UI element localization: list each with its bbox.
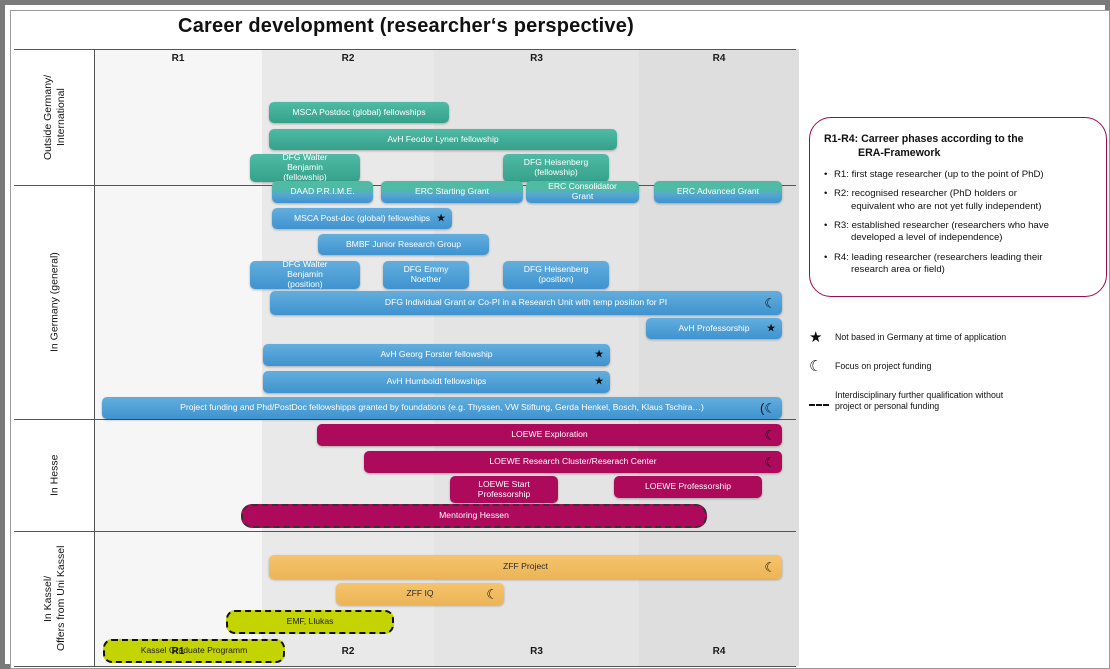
timeline-bar[interactable]: DFG Walter Benjamin (position) (250, 261, 360, 289)
row-label-outside: Outside Germany/ International (20, 49, 90, 185)
crescent-moon-icon: ☾ (764, 456, 776, 469)
timeline-bar[interactable]: ERC Advanced Grant (654, 181, 782, 203)
era-item-cont: research area or field) (834, 264, 1092, 276)
era-bullet-list: •R1: first stage researcher (up to the p… (824, 169, 1092, 277)
era-bullet-item: •R2: recognised researcher (PhD holders … (824, 188, 1092, 213)
timeline-bar-label: Project funding and Phd/PostDoc fellowsh… (180, 403, 704, 413)
crescent-moon-icon: ☾ (764, 297, 776, 310)
era-item-text: R4: leading researcher (researchers lead… (834, 252, 1092, 277)
era-heading-line2: ERA-Framework (824, 146, 1092, 160)
timeline-bar[interactable]: Project funding and Phd/PostDoc fellowsh… (102, 397, 782, 419)
symbol-key-label: Focus on project funding (835, 358, 1109, 372)
era-item-text: R2: recognised researcher (PhD holders o… (834, 188, 1092, 213)
era-item-main: R1: first stage researcher (up to the po… (834, 169, 1044, 180)
era-item-cont: developed a level of independence) (834, 232, 1092, 244)
era-item-text: R1: first stage researcher (up to the po… (834, 169, 1092, 181)
phase-label-r2-top: R2 (262, 53, 434, 64)
timeline-bar-label: LOEWE Exploration (511, 430, 587, 440)
timeline-bar[interactable]: DAAD P.R.I.M.E. (272, 181, 373, 203)
timeline-bar[interactable]: ZFF Project☾ (269, 555, 782, 579)
bullet-icon: • (824, 220, 834, 245)
timeline-bar-label: DFG Walter Benjamin (fellowship) (266, 154, 344, 182)
symbol-key-row: ☾Focus on project funding (809, 358, 1109, 374)
era-bullet-item: •R1: first stage researcher (up to the p… (824, 169, 1092, 181)
timeline-bar-label: LOEWE Research Cluster/Reserach Center (489, 457, 656, 467)
timeline-bar[interactable]: AvH Feodor Lynen fellowship (269, 129, 617, 150)
symbol-key: ★Not based in Germany at time of applica… (809, 329, 1109, 426)
timeline-bar[interactable]: AvH Georg Forster fellowship★ (263, 344, 610, 366)
section-divider-2 (14, 419, 796, 420)
timeline-bar[interactable]: DFG Heisenberg (position) (503, 261, 609, 289)
timeline-bar-label: DFG Emmy Noether (404, 265, 449, 285)
era-item-text: R3: established researcher (researchers … (834, 220, 1092, 245)
era-bullet-item: •R3: established researcher (researchers… (824, 220, 1092, 245)
timeline-bar-label: BMBF Junior Research Group (346, 240, 461, 250)
timeline-bar-label: AvH Georg Forster fellowship (380, 350, 492, 360)
crescent-moon-icon: ☾ (764, 561, 776, 574)
timeline-bar[interactable]: EMF, Llukas (226, 610, 394, 634)
bullet-icon: • (824, 169, 834, 181)
era-item-main: R4: leading researcher (researchers lead… (834, 252, 1043, 263)
timeline-bar[interactable]: LOEWE Start Professorship (450, 476, 558, 503)
bullet-icon: • (824, 252, 834, 277)
timeline-bar-label: ZFF Project (503, 562, 548, 572)
timeline-bar-label: ERC Consolidator Grant (542, 182, 623, 202)
star-icon: ★ (594, 350, 604, 361)
era-item-main: R3: established researcher (researchers … (834, 220, 1049, 231)
star-icon: ★ (594, 377, 604, 388)
era-item-main: R2: recognised researcher (PhD holders o… (834, 188, 1017, 199)
phase-label-r4-bottom: R4 (639, 646, 799, 657)
symbol-key-row: Interdisciplinary further qualification … (809, 387, 1109, 413)
timeline-bar[interactable]: ERC Starting Grant (381, 181, 523, 203)
symbol-key-row: ★Not based in Germany at time of applica… (809, 329, 1109, 345)
crescent-moon-icon: (☾ (760, 402, 776, 415)
phase-label-r1-bottom: R1 (94, 646, 262, 657)
crescent-moon-icon: ☾ (764, 429, 776, 442)
timeline-bar[interactable]: MSCA Postdoc (global) fellowships (269, 102, 449, 123)
timeline-bar-label: DFG Heisenberg (fellowship) (524, 158, 588, 178)
timeline-bar-label: EMF, Llukas (287, 617, 334, 627)
timeline-bar-label: LOEWE Start Professorship (478, 480, 531, 500)
timeline-bar[interactable]: ERC Consolidator Grant (526, 181, 639, 203)
era-bullet-item: •R4: leading researcher (researchers lea… (824, 252, 1092, 277)
timeline-bar-label: MSCA Post-doc (global) fellowships (294, 214, 430, 224)
symbol-key-label: Interdisciplinary further qualification … (835, 387, 1109, 413)
timeline-bar-label: AvH Feodor Lynen fellowship (387, 135, 498, 145)
diagram-canvas: Career development (researcher‘s perspec… (10, 10, 1110, 669)
timeline-bar[interactable]: AvH Humboldt fellowships★ (263, 371, 610, 393)
era-item-cont: equivalent who are not yet fully indepen… (834, 201, 1092, 213)
timeline-bar-label: ERC Advanced Grant (677, 187, 759, 197)
timeline-bar-label: DFG Walter Benjamin (position) (266, 261, 344, 289)
row-label-germany: In Germany (general) (20, 185, 90, 419)
star-icon: ★ (809, 329, 835, 345)
timeline-bar[interactable]: AvH Professorship★ (646, 318, 782, 339)
era-framework-panel: R1-R4: Carreer phases according to the E… (809, 117, 1107, 297)
page-title: Career development (researcher‘s perspec… (11, 15, 801, 38)
timeline-bar[interactable]: DFG Heisenberg (fellowship) (503, 154, 609, 182)
star-icon: ★ (436, 213, 446, 224)
phase-label-r3-top: R3 (434, 53, 639, 64)
timeline-bar[interactable]: MSCA Post-doc (global) fellowships★ (272, 208, 452, 229)
timeline-bar-label: Mentoring Hessen (439, 511, 509, 521)
timeline-bar[interactable]: LOEWE Professorship (614, 476, 762, 498)
timeline-bar-label: ERC Starting Grant (415, 187, 489, 197)
phase-label-r3-bottom: R3 (434, 646, 639, 657)
section-divider-4 (14, 666, 796, 667)
crescent-moon-icon: ☾ (809, 358, 835, 374)
timeline-bar[interactable]: Mentoring Hessen (241, 504, 707, 528)
timeline-bar[interactable]: LOEWE Research Cluster/Reserach Center☾ (364, 451, 782, 473)
timeline-bar-label: MSCA Postdoc (global) fellowships (292, 108, 425, 118)
career-timeline-chart: Outside Germany/ InternationalIn Germany… (14, 41, 796, 666)
star-icon: ★ (766, 323, 776, 334)
timeline-bar[interactable]: DFG Emmy Noether (383, 261, 469, 289)
bullet-icon: • (824, 188, 834, 213)
phase-label-r1-top: R1 (94, 53, 262, 64)
timeline-bar[interactable]: DFG Individual Grant or Co-PI in a Resea… (270, 291, 782, 315)
axis-vertical (94, 49, 95, 666)
timeline-bar-label: AvH Humboldt fellowships (387, 377, 487, 387)
window-frame: Career development (researcher‘s perspec… (0, 0, 1110, 669)
section-divider-0 (14, 49, 796, 50)
phase-label-r2-bottom: R2 (262, 646, 434, 657)
timeline-bar[interactable]: BMBF Junior Research Group (318, 234, 489, 255)
timeline-bar-label: DFG Heisenberg (position) (524, 265, 588, 285)
timeline-bar[interactable]: LOEWE Exploration☾ (317, 424, 782, 446)
timeline-bar-label: DFG Individual Grant or Co-PI in a Resea… (385, 298, 667, 308)
dashed-line-icon (809, 387, 835, 409)
phase-band-r1 (94, 49, 262, 666)
timeline-bar-label: LOEWE Professorship (645, 482, 731, 492)
timeline-bar-label: ZFF IQ (406, 589, 433, 599)
row-label-hesse: In Hesse (20, 419, 90, 531)
section-divider-3 (14, 531, 796, 532)
era-panel-heading: R1-R4: Carreer phases according to the E… (824, 132, 1092, 161)
timeline-bar-label: AvH Professorship (678, 324, 749, 334)
era-heading-line1: R1-R4: Carreer phases according to the (824, 133, 1024, 145)
crescent-moon-icon: ☾ (486, 588, 498, 601)
phase-label-r4-top: R4 (639, 53, 799, 64)
timeline-bar-label: DAAD P.R.I.M.E. (290, 187, 354, 197)
row-label-kassel: In Kassel/ Offers from Uni Kassel (20, 531, 90, 666)
timeline-bar[interactable]: DFG Walter Benjamin (fellowship) (250, 154, 360, 182)
timeline-bar[interactable]: ZFF IQ☾ (336, 583, 504, 605)
symbol-key-label: Not based in Germany at time of applicat… (835, 329, 1109, 343)
